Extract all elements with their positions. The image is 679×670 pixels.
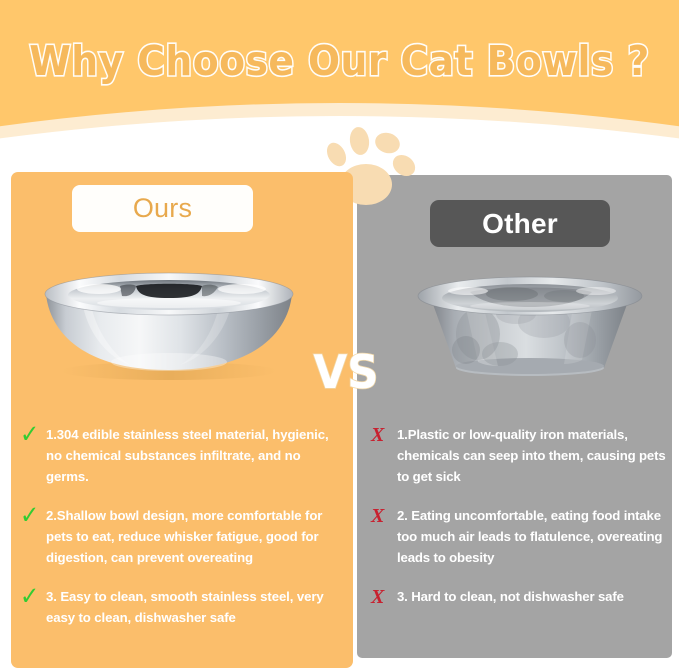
list-item-text: 2.Shallow bowl design, more comfortable …	[46, 505, 338, 568]
other-label-chip: Other	[430, 200, 610, 247]
red-cross-icon: X	[371, 586, 397, 610]
list-item: ✓ 1.304 edible stainless steel material,…	[20, 424, 338, 487]
list-item-text: 1.Plastic or low-quality iron materials,…	[397, 424, 671, 487]
list-item-text: 2. Eating uncomfortable, eating food int…	[397, 505, 671, 568]
green-check-icon: ✓	[20, 424, 46, 449]
green-check-icon: ✓	[20, 505, 46, 530]
red-cross-icon: X	[371, 505, 397, 529]
list-item: X 1.Plastic or low-quality iron material…	[371, 424, 671, 487]
red-cross-icon: X	[371, 424, 397, 448]
ours-benefit-list: ✓ 1.304 edible stainless steel material,…	[20, 424, 338, 646]
stainless-steel-bowl-image	[24, 266, 314, 382]
vs-divider-label: VS	[308, 344, 384, 400]
other-drawback-list: X 1.Plastic or low-quality iron material…	[371, 424, 671, 628]
list-item: ✓ 2.Shallow bowl design, more comfortabl…	[20, 505, 338, 568]
list-item: X 3. Hard to clean, not dishwasher safe	[371, 586, 671, 610]
list-item-text: 3. Easy to clean, smooth stainless steel…	[46, 586, 338, 628]
list-item-text: 3. Hard to clean, not dishwasher safe	[397, 586, 671, 607]
page-title: Why Choose Our Cat Bowls ?	[27, 38, 652, 84]
list-item-text: 1.304 edible stainless steel material, h…	[46, 424, 338, 487]
green-check-icon: ✓	[20, 586, 46, 611]
ours-label-chip: Ours	[72, 185, 253, 232]
list-item: X 2. Eating uncomfortable, eating food i…	[371, 505, 671, 568]
other-label-text: Other	[482, 208, 558, 240]
list-item: ✓ 3. Easy to clean, smooth stainless ste…	[20, 586, 338, 628]
worn-metal-bowl-image	[404, 262, 656, 382]
ours-label-text: Ours	[133, 193, 192, 224]
